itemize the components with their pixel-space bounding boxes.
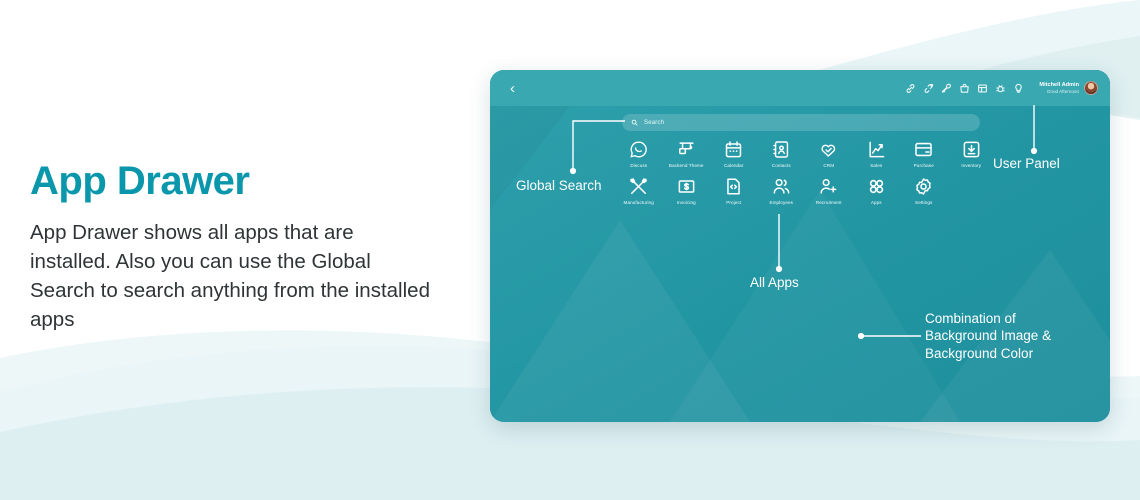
user-names: Mitchell Admin Good Afternoon <box>1039 82 1079 94</box>
app-item-apps[interactable]: Apps <box>853 177 901 205</box>
people-icon <box>772 177 791 196</box>
app-label: Backend Theme <box>669 163 704 168</box>
user-greeting: Good Afternoon <box>1039 89 1079 94</box>
app-label: Contacts <box>772 163 791 168</box>
page-title: App Drawer <box>30 160 430 202</box>
annotation-global-search: Global Search <box>516 177 602 194</box>
app-item-contacts[interactable]: Contacts <box>758 140 806 168</box>
app-drawer-panel: ‹ Mitchell Admin Good Afternoon Search D… <box>490 70 1110 422</box>
app-label: Invoicing <box>677 200 696 205</box>
app-label: CRM <box>823 163 834 168</box>
annotation-background: Combination of Background Image & Backgr… <box>925 310 1051 362</box>
grid-icon[interactable] <box>977 83 988 94</box>
search-icon <box>631 119 638 126</box>
hearts-icon <box>819 140 838 159</box>
user-panel[interactable]: Mitchell Admin Good Afternoon <box>1039 81 1098 95</box>
app-label: Recruitment <box>816 200 842 205</box>
person-plus-icon <box>819 177 838 196</box>
app-item-crm[interactable]: CRM <box>805 140 853 168</box>
tools-icon <box>629 177 648 196</box>
annotation-label: User Panel <box>993 155 1060 172</box>
bag-icon[interactable] <box>959 83 970 94</box>
chat-bubble-icon <box>629 140 648 159</box>
app-item-purchase[interactable]: Purchase <box>900 140 948 168</box>
contact-card-icon <box>772 140 791 159</box>
annotation-all-apps: All Apps <box>750 274 799 291</box>
code-document-icon <box>724 177 743 196</box>
user-name: Mitchell Admin <box>1039 82 1079 88</box>
app-label: Project <box>726 200 741 205</box>
app-label: Sales <box>870 163 882 168</box>
bulb-icon[interactable] <box>1013 83 1024 94</box>
avatar[interactable] <box>1084 81 1098 95</box>
annotation-label: All Apps <box>750 274 799 291</box>
app-label: Manufacturing <box>624 200 654 205</box>
theme-node-icon <box>677 140 696 159</box>
systray: Mitchell Admin Good Afternoon <box>905 70 1098 106</box>
bug-icon[interactable] <box>995 83 1006 94</box>
wrench-icon[interactable] <box>941 83 952 94</box>
global-search-input[interactable]: Search <box>622 114 980 131</box>
link-badge-icon[interactable] <box>923 83 934 94</box>
app-item-recruitment[interactable]: Recruitment <box>805 177 853 205</box>
app-grid: Discuss Backend Theme Calendar Contacts … <box>615 140 995 205</box>
app-label: Purchase <box>914 163 934 168</box>
annotation-label: Combination of Background Image & Backgr… <box>925 310 1051 362</box>
credit-card-icon <box>914 140 933 159</box>
calendar-icon <box>724 140 743 159</box>
dollar-box-icon <box>677 177 696 196</box>
app-item-invoicing[interactable]: Invoicing <box>663 177 711 205</box>
app-label: Discuss <box>630 163 647 168</box>
link-icon[interactable] <box>905 83 916 94</box>
app-item-discuss[interactable]: Discuss <box>615 140 663 168</box>
app-item-employees[interactable]: Employees <box>758 177 806 205</box>
app-item-calendar[interactable]: Calendar <box>710 140 758 168</box>
app-label: Employees <box>769 200 793 205</box>
app-label: Calendar <box>724 163 743 168</box>
app-item-backend-theme[interactable]: Backend Theme <box>663 140 711 168</box>
four-dots-icon <box>867 177 886 196</box>
annotation-label: Global Search <box>516 177 602 194</box>
app-item-inventory[interactable]: Inventory <box>948 140 996 168</box>
app-label: Settings <box>915 200 932 205</box>
gear-icon <box>914 177 933 196</box>
annotation-user-panel: User Panel <box>993 155 1060 172</box>
left-text-block: App Drawer App Drawer shows all apps tha… <box>30 160 430 334</box>
app-item-sales[interactable]: Sales <box>853 140 901 168</box>
box-download-icon <box>962 140 981 159</box>
chart-line-icon <box>867 140 886 159</box>
app-label: Inventory <box>961 163 981 168</box>
app-item-settings[interactable]: Settings <box>900 177 948 205</box>
app-item-project[interactable]: Project <box>710 177 758 205</box>
app-label: Apps <box>871 200 882 205</box>
page-description: App Drawer shows all apps that are insta… <box>30 218 430 334</box>
back-chevron-icon[interactable]: ‹ <box>510 81 515 96</box>
app-item-manufacturing[interactable]: Manufacturing <box>615 177 663 205</box>
search-placeholder: Search <box>644 120 664 126</box>
